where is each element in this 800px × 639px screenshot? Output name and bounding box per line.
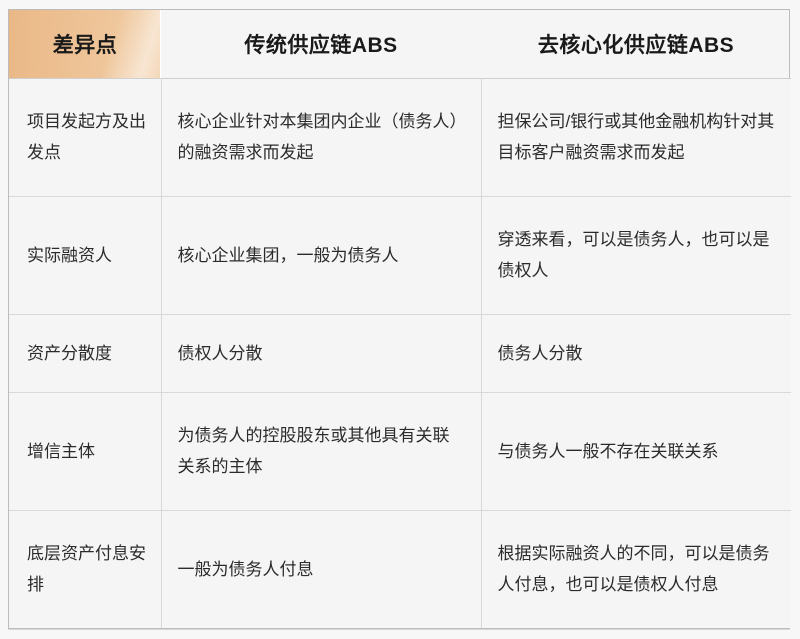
supply-chain-abs-comparison-table: 差异点 传统供应链ABS 去核心化供应链ABS 项目发起方及出发点 核心企业针对… [9, 10, 791, 628]
table-header-label-traditional-abs: 传统供应链ABS [244, 34, 397, 57]
row-traditional-actual-financier: 核心企业集团，一般为债务人 [161, 196, 481, 314]
table-row: 底层资产付息安排 一般为债务人付息 根据实际融资人的不同，可以是债务人付息，也可… [9, 510, 791, 628]
table-header-cell-decentralized-abs: 去核心化供应链ABS [481, 10, 791, 78]
row-decentralized-actual-financier: 穿透来看，可以是债务人，也可以是债权人 [481, 196, 791, 314]
comparison-table-container: 差异点 传统供应链ABS 去核心化供应链ABS 项目发起方及出发点 核心企业针对… [8, 9, 790, 629]
row-decentralized-project-initiator: 担保公司/银行或其他金融机构针对其目标客户融资需求而发起 [481, 78, 791, 196]
row-label-project-initiator: 项目发起方及出发点 [9, 78, 161, 196]
row-decentralized-credit-enhancement-entity: 与债务人一般不存在关联关系 [481, 392, 791, 510]
row-label-asset-dispersion: 资产分散度 [9, 314, 161, 392]
header-separator-1 [160, 10, 161, 78]
row-label-credit-enhancement-entity: 增信主体 [9, 392, 161, 510]
row-traditional-asset-dispersion: 债权人分散 [161, 314, 481, 392]
row-label-actual-financier: 实际融资人 [9, 196, 161, 314]
table-header-cell-traditional-abs: 传统供应链ABS [161, 10, 481, 78]
table-row: 资产分散度 债权人分散 债务人分散 [9, 314, 791, 392]
row-traditional-project-initiator: 核心企业针对本集团内企业（债务人）的融资需求而发起 [161, 78, 481, 196]
row-traditional-credit-enhancement-entity: 为债务人的控股股东或其他具有关联关系的主体 [161, 392, 481, 510]
table-header-cell-difference-point: 差异点 [9, 10, 161, 78]
table-header: 差异点 传统供应链ABS 去核心化供应链ABS [9, 10, 791, 78]
table-row: 实际融资人 核心企业集团，一般为债务人 穿透来看，可以是债务人，也可以是债权人 [9, 196, 791, 314]
row-traditional-underlying-asset-interest: 一般为债务人付息 [161, 510, 481, 628]
row-label-underlying-asset-interest: 底层资产付息安排 [9, 510, 161, 628]
row-decentralized-underlying-asset-interest: 根据实际融资人的不同，可以是债务人付息，也可以是债权人付息 [481, 510, 791, 628]
table-row: 增信主体 为债务人的控股股东或其他具有关联关系的主体 与债务人一般不存在关联关系 [9, 392, 791, 510]
table-header-row: 差异点 传统供应链ABS 去核心化供应链ABS [9, 10, 791, 78]
row-decentralized-asset-dispersion: 债务人分散 [481, 314, 791, 392]
table-body: 项目发起方及出发点 核心企业针对本集团内企业（债务人）的融资需求而发起 担保公司… [9, 78, 791, 628]
table-header-label-decentralized-abs: 去核心化供应链ABS [538, 34, 734, 57]
table-header-label-difference-point: 差异点 [53, 34, 118, 57]
table-row: 项目发起方及出发点 核心企业针对本集团内企业（债务人）的融资需求而发起 担保公司… [9, 78, 791, 196]
